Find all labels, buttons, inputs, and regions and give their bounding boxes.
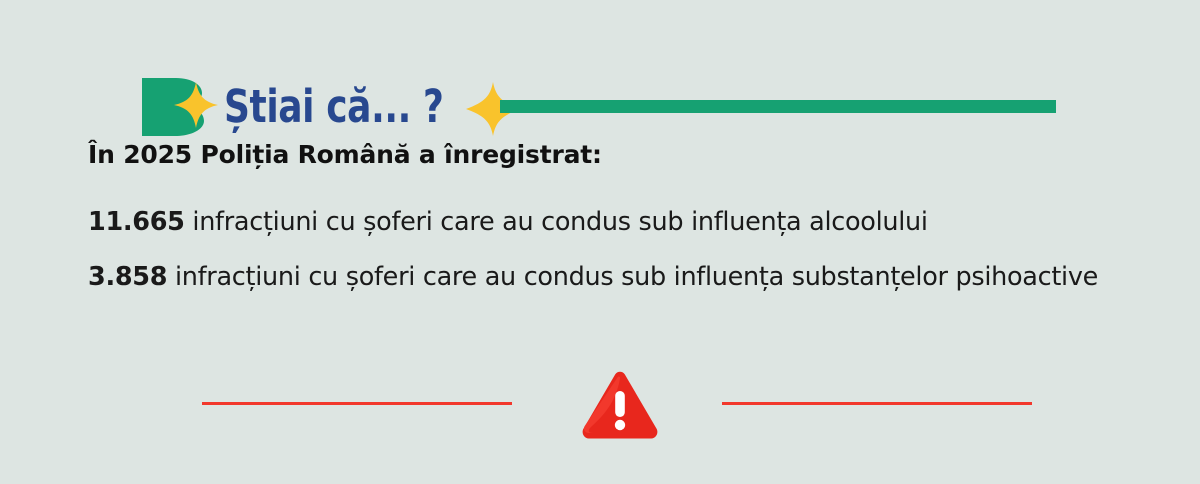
stat-text-alcohol: infracțiuni cu șoferi care au condus sub… xyxy=(185,207,928,237)
header: Știai că... ? xyxy=(0,36,1200,108)
divider-right xyxy=(722,402,1032,405)
page-title: Știai că... ? xyxy=(224,74,444,140)
infographic-canvas: Știai că... ? În 2025 Poliția Română a î… xyxy=(0,0,1200,484)
stat-value-psychoactive: 3.858 xyxy=(88,262,167,292)
main-content: În 2025 Poliția Română a înregistrat: 11… xyxy=(88,140,1112,317)
stat-line-alcohol: 11.665 infracțiuni cu șoferi care au con… xyxy=(88,207,1112,238)
warning-triangle-icon xyxy=(581,370,659,442)
stat-value-alcohol: 11.665 xyxy=(88,207,185,237)
brand-b-logo xyxy=(142,78,222,136)
footer xyxy=(0,370,1200,450)
divider-left xyxy=(202,402,512,405)
stat-text-psychoactive: infracțiuni cu șoferi care au condus sub… xyxy=(167,262,1098,292)
main-heading: În 2025 Poliția Română a înregistrat: xyxy=(88,140,1112,169)
stat-line-psychoactive: 3.858 infracțiuni cu șoferi care au cond… xyxy=(88,262,1112,293)
header-rule xyxy=(500,100,1056,113)
